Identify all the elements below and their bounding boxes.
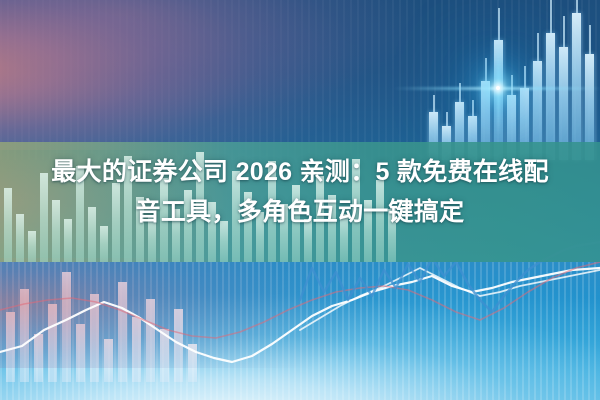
- chart-line-white-trend-lower-left: [0, 268, 600, 362]
- page-title: 最大的证券公司 2026 亲测：5 款免费在线配 音工具，多角色互动一键搞定: [0, 152, 600, 232]
- financial-banner-image: 最大的证券公司 2026 亲测：5 款免费在线配 音工具，多角色互动一键搞定: [0, 0, 600, 400]
- headline-line-1: 最大的证券公司 2026 亲测：5 款免费在线配: [0, 152, 600, 192]
- candlestick-bar: [28, 231, 36, 262]
- headline-line-2: 音工具，多角色互动一键搞定: [0, 192, 600, 232]
